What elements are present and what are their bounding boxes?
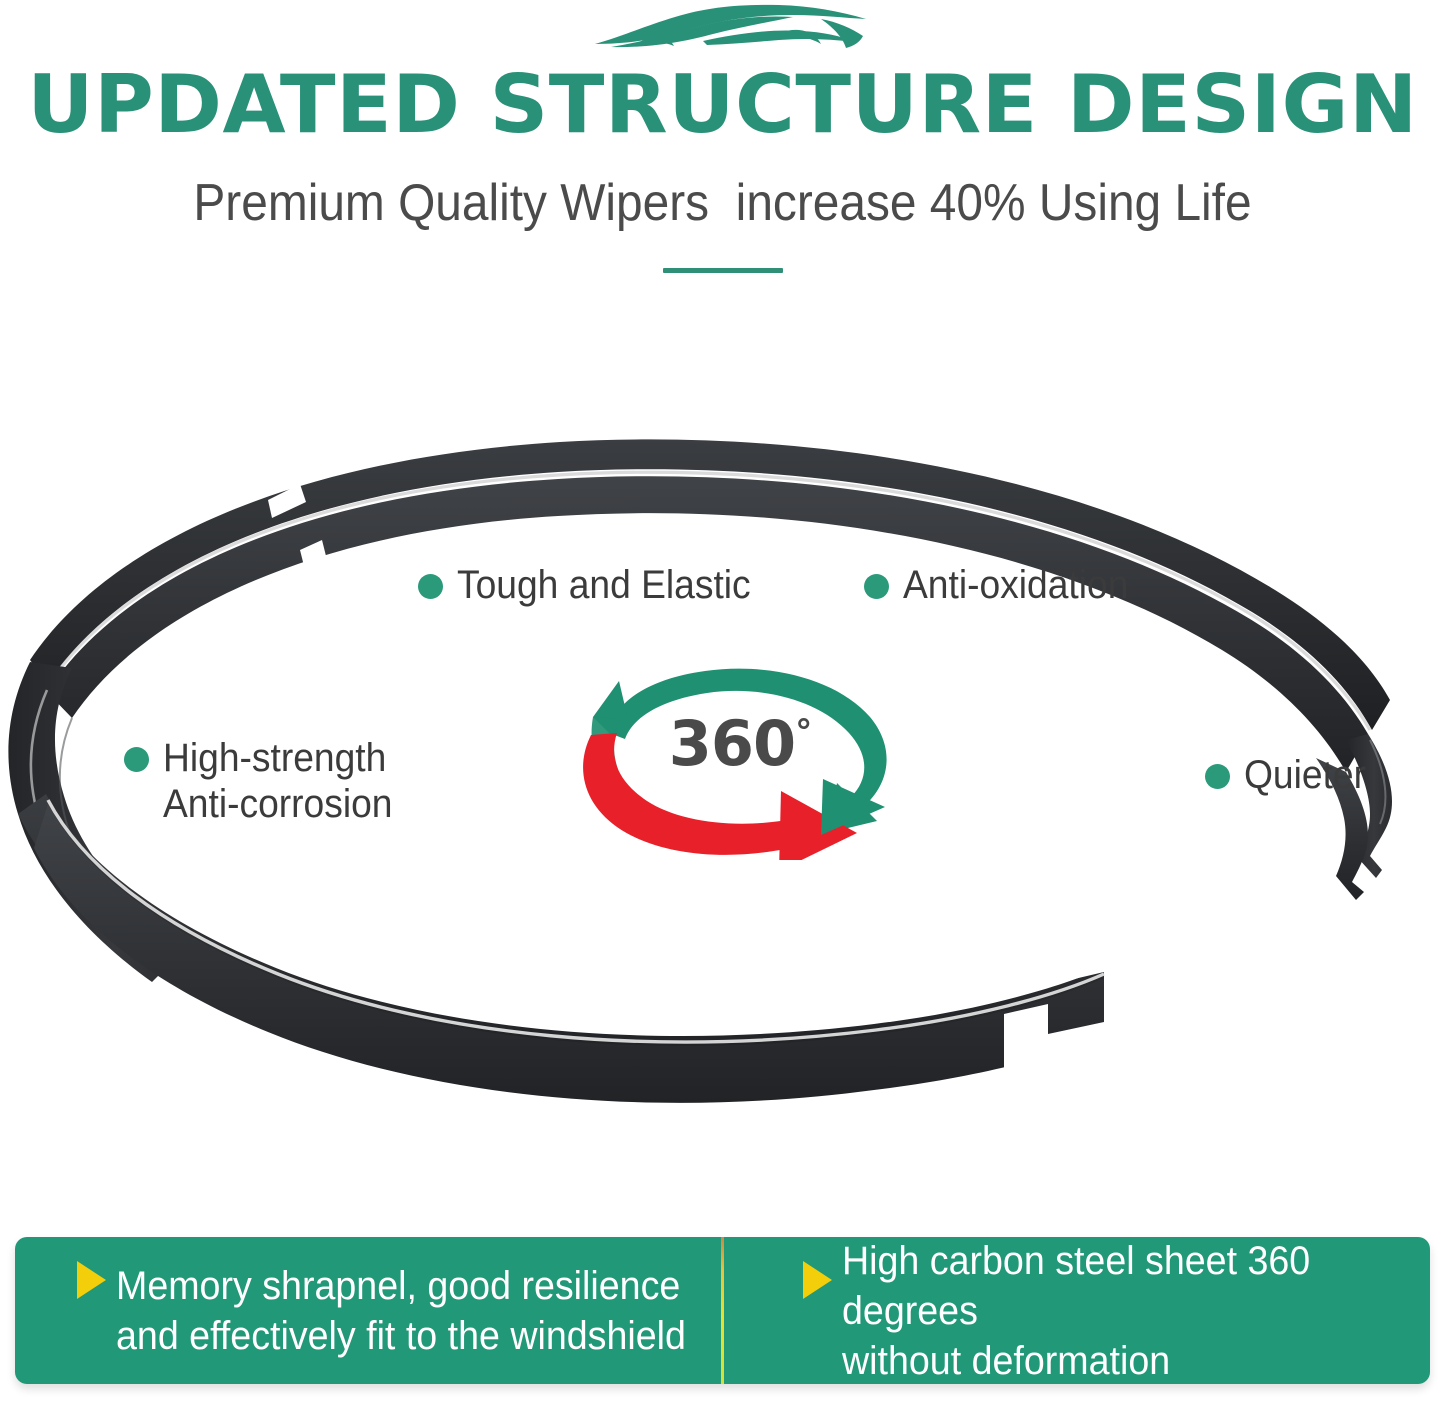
banner-item-left: Memory shrapnel, good resilience and eff…	[15, 1237, 723, 1384]
feature-high-strength-anti-corrosion: High-strength Anti-corrosion	[124, 735, 410, 827]
feature-quieter: Quieter	[1205, 752, 1375, 798]
feature-label: Anti-oxidation	[903, 562, 1128, 608]
badge-number: 360	[669, 707, 795, 780]
page-subtitle: Premium Quality Wipers increase 40% Usin…	[58, 172, 1387, 234]
triangle-bullet-icon	[803, 1261, 832, 1299]
banner-item-right: High carbon steel sheet 360 degrees with…	[723, 1237, 1431, 1384]
triangle-bullet-icon	[77, 1261, 106, 1299]
feature-label: Quieter	[1244, 752, 1366, 798]
feature-anti-oxidation: Anti-oxidation	[864, 562, 1145, 608]
feature-tough-and-elastic: Tough and Elastic	[418, 562, 773, 608]
feature-label: High-strength Anti-corrosion	[163, 735, 392, 827]
banner-text: Memory shrapnel, good resilience and eff…	[116, 1261, 686, 1361]
car-silhouette-logo	[583, 2, 873, 60]
infographic-page: UPDATED STRUCTURE DESIGN Premium Quality…	[0, 0, 1445, 1421]
banner-divider	[721, 1237, 724, 1384]
badge-value: 360°	[565, 711, 915, 777]
feature-label: Tough and Elastic	[457, 562, 751, 608]
bottom-feature-banner: Memory shrapnel, good resilience and eff…	[15, 1237, 1430, 1384]
rotation-360-badge: 360°	[565, 655, 915, 860]
bullet-dot-icon	[124, 747, 149, 772]
title-divider	[663, 268, 783, 273]
bullet-dot-icon	[1205, 764, 1230, 789]
banner-text: High carbon steel sheet 360 degrees with…	[842, 1236, 1395, 1386]
degree-symbol: °	[795, 712, 811, 752]
bullet-dot-icon	[864, 574, 889, 599]
page-title: UPDATED STRUCTURE DESIGN	[0, 62, 1445, 148]
bullet-dot-icon	[418, 574, 443, 599]
